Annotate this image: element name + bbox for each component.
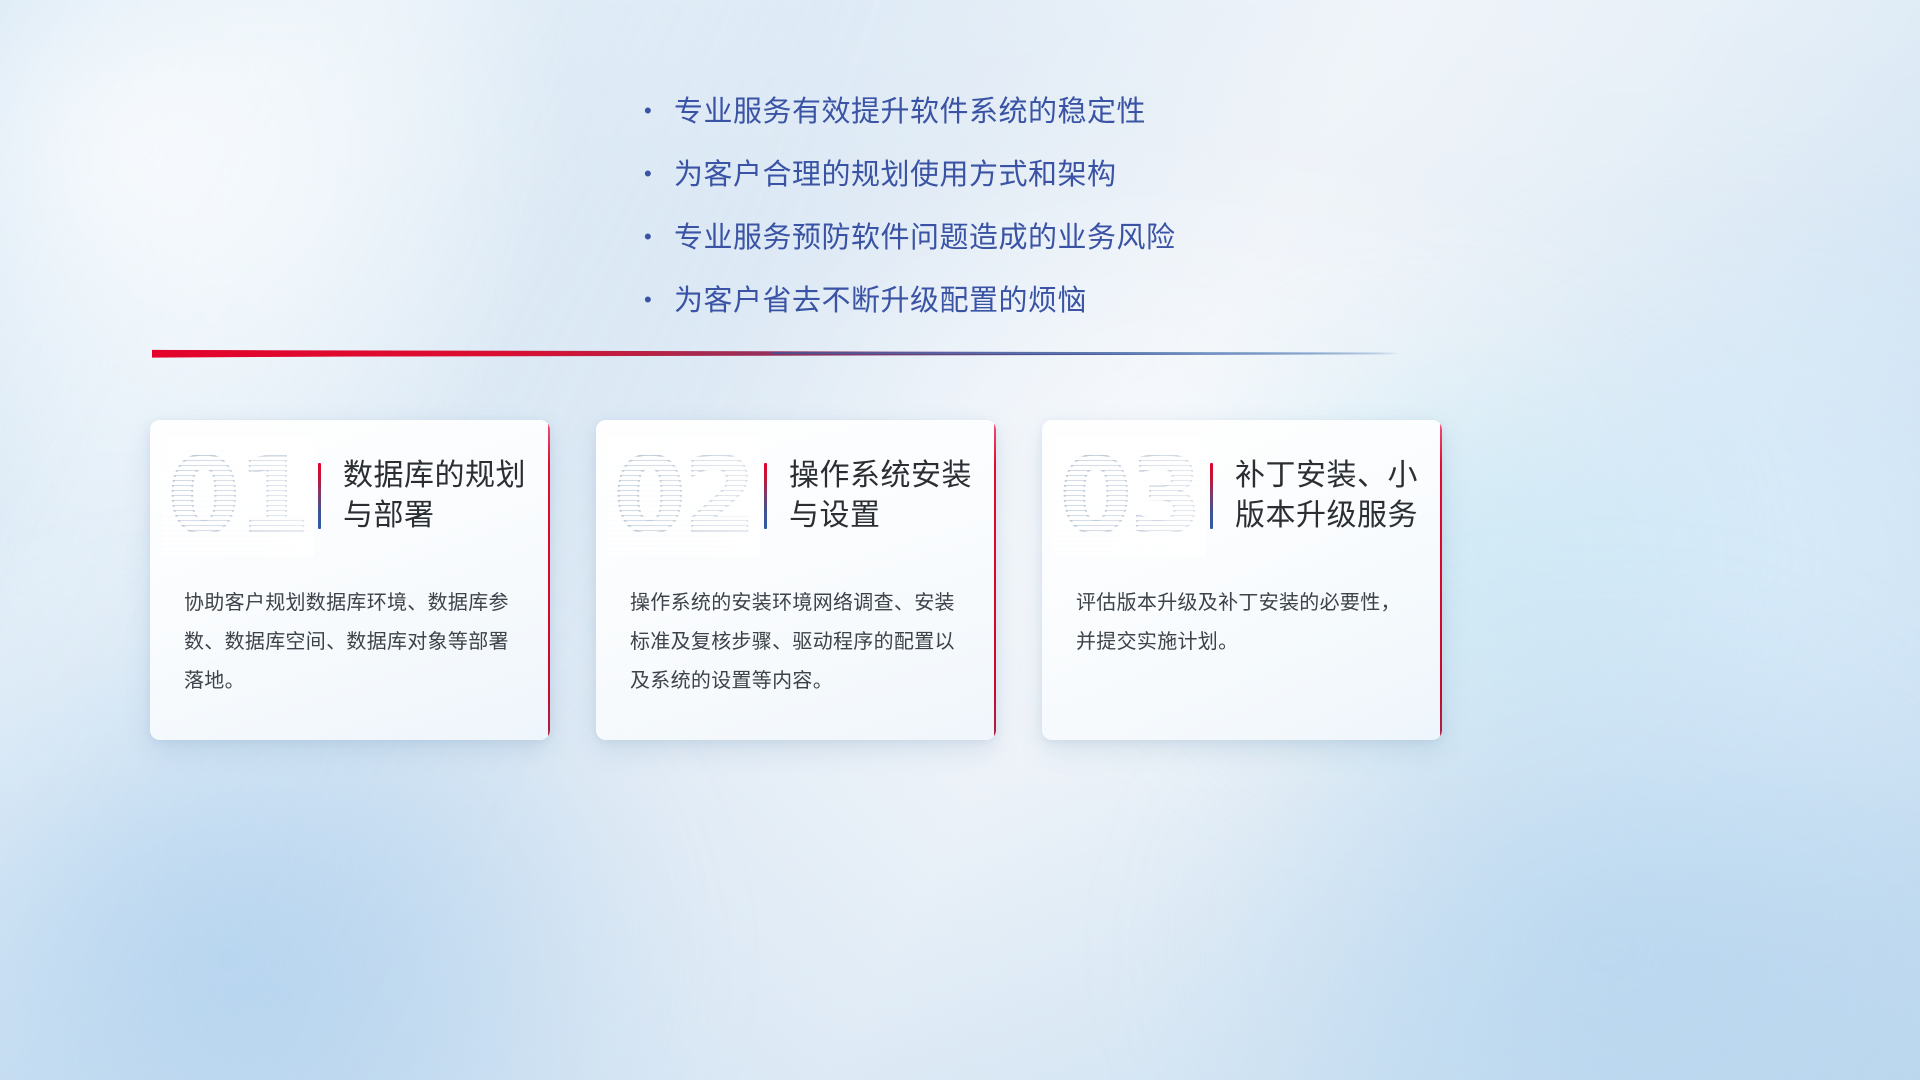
bullet-item: • 为客户省去不断升级配置的烦恼 (610, 277, 1310, 340)
service-card[interactable]: 01 数据库的规划与部署 协助客户规划数据库环境、数据库参数、数据库空间、数据库… (150, 420, 550, 740)
card-number-graphic: 01 (162, 435, 314, 557)
bullet-item: • 专业服务预防软件问题造成的业务风险 (610, 214, 1310, 277)
divider-red-taper (152, 349, 712, 358)
section-divider (152, 346, 1400, 362)
card-number-graphic: 03 (1054, 435, 1206, 557)
card-header: 02 操作系统安装与设置 (596, 420, 996, 572)
card-title-divider (1210, 463, 1213, 529)
card-header: 03 补丁安装、小版本升级服务 (1042, 420, 1442, 572)
service-card[interactable]: 03 补丁安装、小版本升级服务 评估版本升级及补丁安装的必要性，并提交实施计划。 (1042, 420, 1442, 740)
card-number-graphic: 02 (608, 435, 760, 557)
bullet-text: 为客户合理的规划使用方式和架构 (674, 151, 1117, 193)
bullet-dot-icon: • (644, 289, 674, 311)
card-title: 数据库的规划与部署 (343, 456, 550, 536)
card-description: 操作系统的安装环境网络调查、安装标准及复核步骤、驱动程序的配置以及系统的设置等内… (596, 572, 996, 701)
card-number-text: 02 (614, 444, 755, 548)
benefits-bullet-list: • 专业服务有效提升软件系统的稳定性 • 为客户合理的规划使用方式和架构 • 专… (0, 88, 1920, 340)
bullet-item: • 专业服务有效提升软件系统的稳定性 (610, 88, 1310, 151)
bullet-dot-icon: • (644, 163, 674, 185)
service-card[interactable]: 02 操作系统安装与设置 操作系统的安装环境网络调查、安装标准及复核步骤、驱动程… (596, 420, 996, 740)
bullet-text: 专业服务预防软件问题造成的业务风险 (674, 214, 1176, 256)
bullet-text: 为客户省去不断升级配置的烦恼 (674, 277, 1087, 319)
card-number-text: 01 (168, 444, 309, 548)
card-title-divider (318, 463, 321, 529)
bullet-item: • 为客户合理的规划使用方式和架构 (610, 151, 1310, 214)
card-header: 01 数据库的规划与部署 (150, 420, 550, 572)
bullet-text: 专业服务有效提升软件系统的稳定性 (674, 88, 1146, 130)
card-description: 评估版本升级及补丁安装的必要性，并提交实施计划。 (1042, 572, 1442, 662)
service-card-group: 01 数据库的规划与部署 协助客户规划数据库环境、数据库参数、数据库空间、数据库… (150, 420, 1442, 740)
card-title: 补丁安装、小版本升级服务 (1235, 456, 1442, 536)
card-title: 操作系统安装与设置 (789, 456, 996, 536)
card-description: 协助客户规划数据库环境、数据库参数、数据库空间、数据库对象等部署落地。 (150, 572, 550, 701)
bullet-dot-icon: • (644, 100, 674, 122)
divider-hairline (772, 352, 1400, 354)
card-number-text: 03 (1060, 444, 1201, 548)
bullet-dot-icon: • (644, 226, 674, 248)
card-title-divider (764, 463, 767, 529)
